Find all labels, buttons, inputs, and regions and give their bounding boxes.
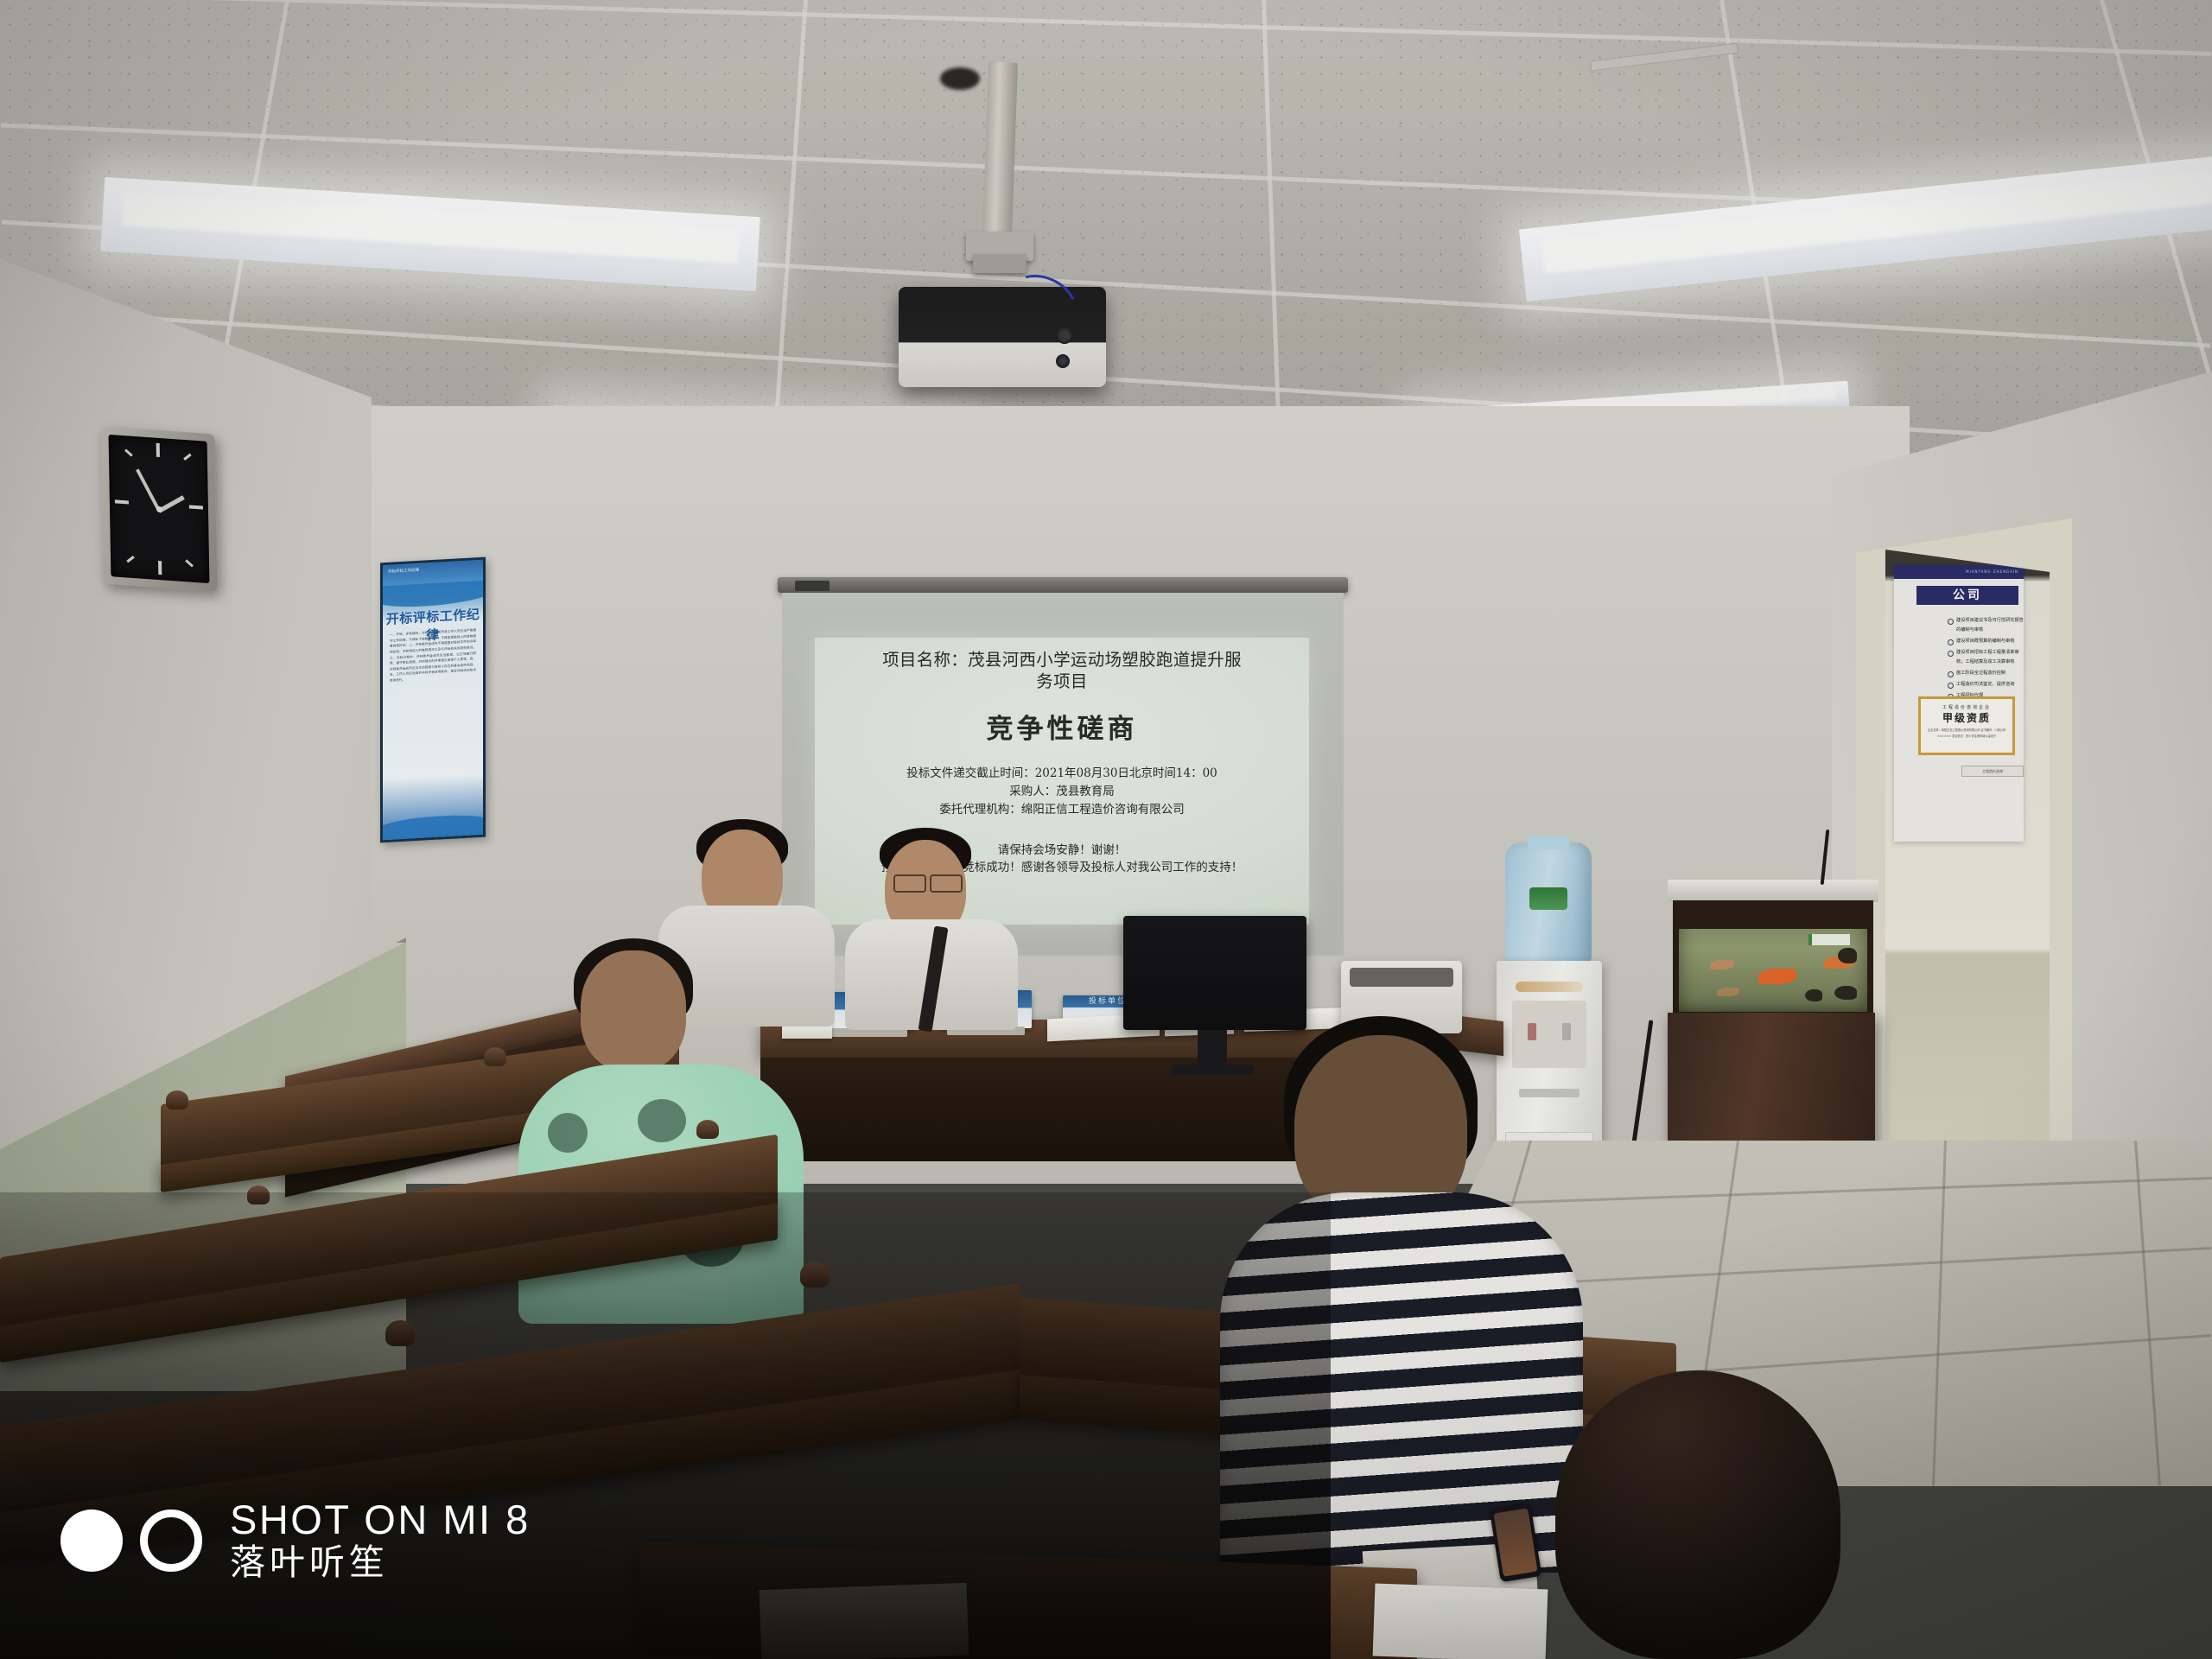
watermark: SHOT ON MI 8 落叶听笙 <box>60 1497 531 1583</box>
watermark-line2: 落叶听笙 <box>230 1543 531 1583</box>
glasses-icon <box>930 874 963 893</box>
list-item: 建设项目招标工程工程量清单审核；工程结算及竣工决算审核 <box>1948 648 2024 667</box>
hair <box>1555 1370 1840 1659</box>
certificate-frame: 工程造价咨询企业 甲级资质 企业名称：绵阳正信工程造价咨询有限公司 证书编号：川… <box>1918 696 2015 755</box>
slide-purchaser: 采购人：茂县教育局 <box>830 783 1294 801</box>
bench-knob <box>484 1047 506 1066</box>
poster-logo: 开标评标工作纪律 <box>388 568 419 575</box>
goldfish <box>1717 988 1739 996</box>
list-item: 建设项目建议书及可行性研究报告的编制与审核 <box>1948 616 2024 635</box>
phone-screen <box>1493 1508 1537 1576</box>
circle-ring-icon <box>140 1510 202 1572</box>
printer-output-tray <box>1350 968 1453 987</box>
aquarium-hood <box>1668 880 1878 902</box>
poster-header-band: MIANYANG ZHENGXIN <box>1894 565 2024 579</box>
watermark-text: SHOT ON MI 8 落叶听笙 <box>230 1497 531 1583</box>
projection-screen-housing <box>778 577 1348 593</box>
slide-deadline: 投标文件递交截止时间：2021年08月30日北京时间14：00 <box>830 765 1294 783</box>
circle-filled-icon <box>60 1510 123 1572</box>
aquarium-decor <box>1834 986 1857 1000</box>
aquarium-tank <box>1673 900 1873 1018</box>
water-bottle <box>1505 842 1592 965</box>
goldfish <box>1710 960 1734 969</box>
hot-water-tap[interactable] <box>1528 1023 1536 1040</box>
dispenser-brand-strip <box>1516 982 1583 992</box>
water-bottle-label <box>1529 887 1567 910</box>
projection-screen: 项目名称：茂县河西小学运动场塑胶跑道提升服 务项目 竞争性磋商 投标文件递交截止… <box>782 593 1344 956</box>
certificate-line1: 工程造价咨询企业 <box>1921 704 2012 710</box>
watermark-line1: SHOT ON MI 8 <box>230 1497 531 1543</box>
computer-monitor <box>1123 916 1306 1030</box>
slide-title-line1: 项目名称：茂县河西小学运动场塑胶跑道提升服 <box>830 650 1294 671</box>
open-doorway[interactable]: MIANYANG ZHENGXIN 公司 建设项目建议书及可行性研究报告的编制与… <box>1885 550 2050 1192</box>
monitor-stand-neck <box>1198 1030 1227 1068</box>
list-item: 建设项目概预算的编制与审核 <box>1948 637 2024 646</box>
paper-sheet <box>760 1583 969 1659</box>
aquarium-decor <box>1838 948 1857 963</box>
goldfish <box>1758 969 1796 984</box>
corridor-poster-tag: 工程造价咨询 <box>1961 766 2024 777</box>
wall-poster-discipline: 开标评标工作纪律 开标评标工作纪律 一、开标、评标期间，评标委员会成员及工作人员… <box>380 557 486 843</box>
slide-agency: 委托代理机构：绵阳正信工程造价咨询有限公司 <box>830 801 1294 819</box>
poster-band-text: MIANYANG ZHENGXIN <box>1966 569 2018 574</box>
nameplate-label: 投标单位 <box>1089 997 1127 1006</box>
bench-knob <box>166 1090 188 1109</box>
clock-minute-hand <box>136 469 161 512</box>
watermark-dots <box>60 1510 202 1572</box>
corridor-poster-title: 公司 <box>1916 586 2018 605</box>
dispenser-tap-panel <box>1512 1001 1586 1068</box>
bench-knob <box>385 1320 415 1346</box>
clock-face <box>109 435 210 583</box>
aquarium-decor <box>1805 989 1822 1001</box>
glasses-icon <box>893 874 926 893</box>
list-item: 工程造价司法鉴定、提供咨询 <box>1948 680 2024 690</box>
clock-hub <box>156 505 162 512</box>
corridor-services-poster: MIANYANG ZHENGXIN 公司 建设项目建议书及可行性研究报告的编制与… <box>1894 565 2024 842</box>
bench-knob <box>696 1120 719 1139</box>
meeting-room-photo: 开标评标工作纪律 开标评标工作纪律 一、开标、评标期间，评标委员会成员及工作人员… <box>0 0 2212 1659</box>
certificate-line2: 甲级资质 <box>1921 710 2012 725</box>
list-item: 施工阶段全过程造价控制 <box>1948 669 2024 678</box>
drip-tray <box>1519 1089 1580 1097</box>
slide-headline: 竞争性磋商 <box>830 707 1294 746</box>
bench-knob <box>247 1185 270 1205</box>
projection-screen-roller <box>795 581 829 591</box>
wall-clock <box>100 426 217 591</box>
aquarium-sticker <box>1808 934 1850 945</box>
poster-body: 一、开标、评标期间，评标委员会成员及工作人员应当严格遵守工作纪律，不得私下接触投… <box>390 627 476 683</box>
bench-knob <box>800 1262 829 1287</box>
slide-title-line2: 务项目 <box>830 671 1294 693</box>
cold-water-tap[interactable] <box>1562 1023 1571 1040</box>
certificate-line3: 企业名称：绵阳正信工程造价咨询有限公司 证书编号：川造价甲×××××× 发证机关… <box>1921 728 2012 739</box>
head <box>581 950 686 1071</box>
paper-sheet <box>1373 1584 1548 1659</box>
monitor-stand-base <box>1172 1065 1255 1075</box>
